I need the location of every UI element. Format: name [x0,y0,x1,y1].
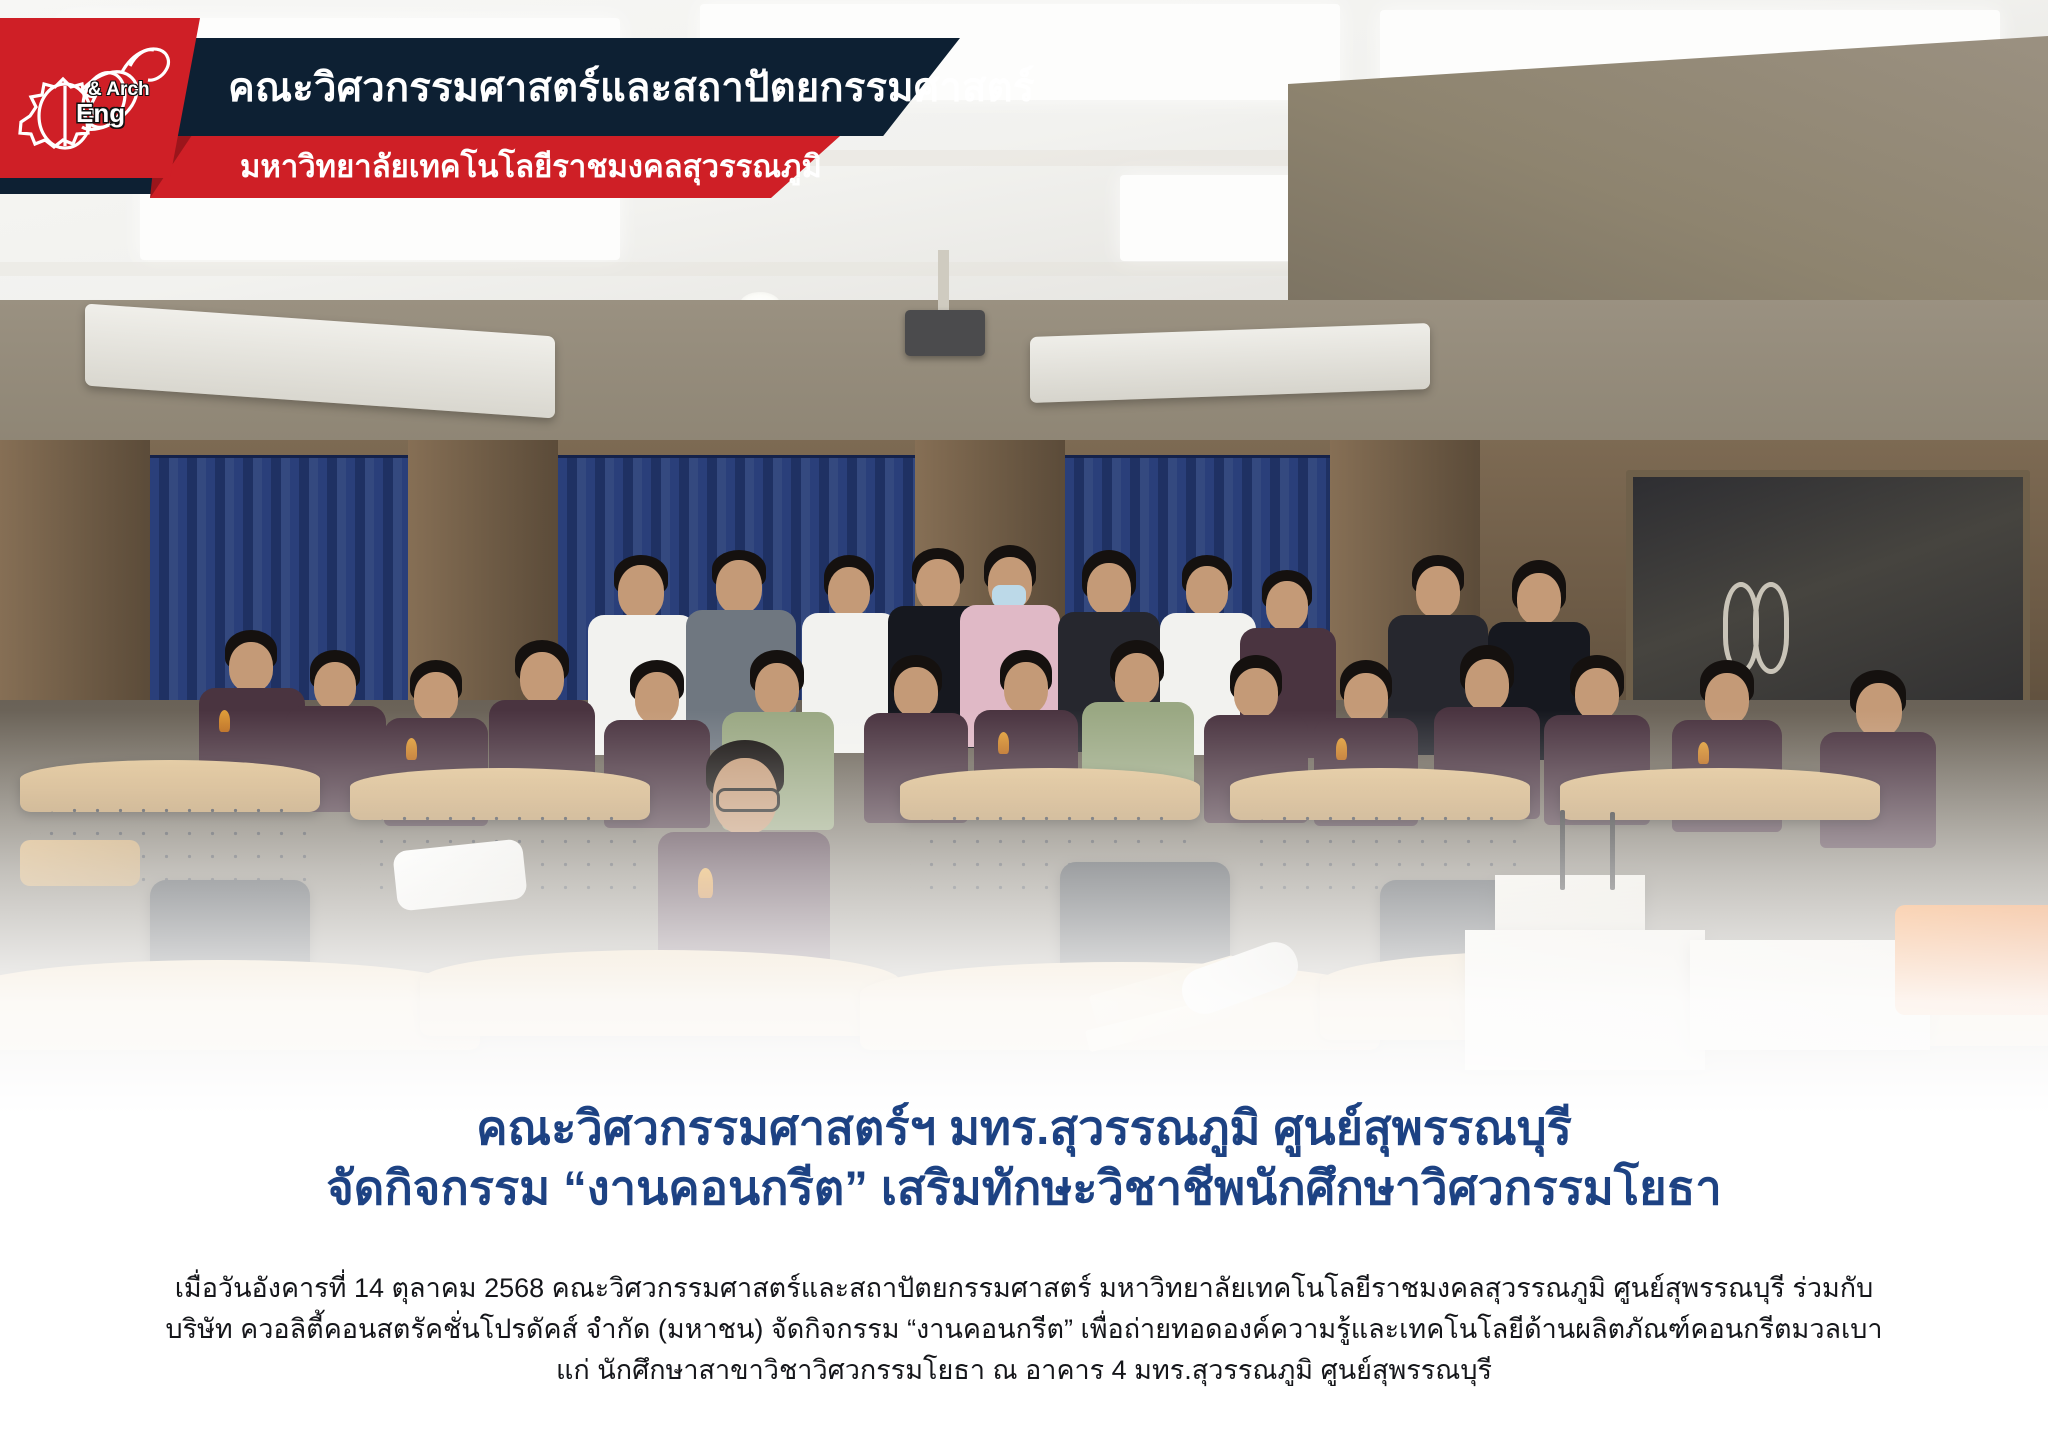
window-curtain [150,455,408,723]
body-line-3: แก่ นักศึกษาสาขาวิชาวิศวกรรมโยธา ณ อาคาร… [0,1350,2048,1391]
body-line-1: เมื่อวันอังคารที่ 14 ตุลาคม 2568 คณะวิศว… [0,1268,2048,1309]
headline: คณะวิศวกรรมศาสตร์ฯ มทร.สุวรรณภูมิ ศูนย์ส… [0,1098,2048,1218]
faculty-logo-block[interactable]: & Arch Eng [0,18,200,178]
projector-mount [938,250,949,314]
university-name: มหาวิทยาลัยเทคโนโลยีราชมงคลสุวรรณภูมิ [240,142,880,192]
body-line-2: บริษัท ควอลิตี้คอนสตรัคชั่นโปรดัคส์ จำกั… [0,1309,2048,1350]
headline-line-2: จัดกิจกรรม “งานคอนกรีต” เสริมทักษะวิชาชี… [0,1158,2048,1218]
air-conditioner [1030,323,1430,403]
logo-text-arch: & Arch [88,80,150,99]
body-paragraph: เมื่อวันอังคารที่ 14 ตุลาคม 2568 คณะวิศว… [0,1268,2048,1391]
door-handle[interactable] [1753,582,1789,674]
wall-column [0,440,150,740]
header-banner: & Arch Eng คณะวิศวกรรมศาสตร์และสถาปัตยกร… [0,0,1100,215]
projector-icon [905,310,985,356]
logo-text-eng: Eng [76,100,125,126]
news-announcement-page: & Arch Eng คณะวิศวกรรมศาสตร์และสถาปัตยกร… [0,0,2048,1447]
headline-line-1: คณะวิศวกรรมศาสตร์ฯ มทร.สุวรรณภูมิ ศูนย์ส… [476,1101,1572,1154]
faculty-title: คณะวิศวกรรมศาสตร์และสถาปัตยกรรมศาสตร์ [228,52,928,124]
